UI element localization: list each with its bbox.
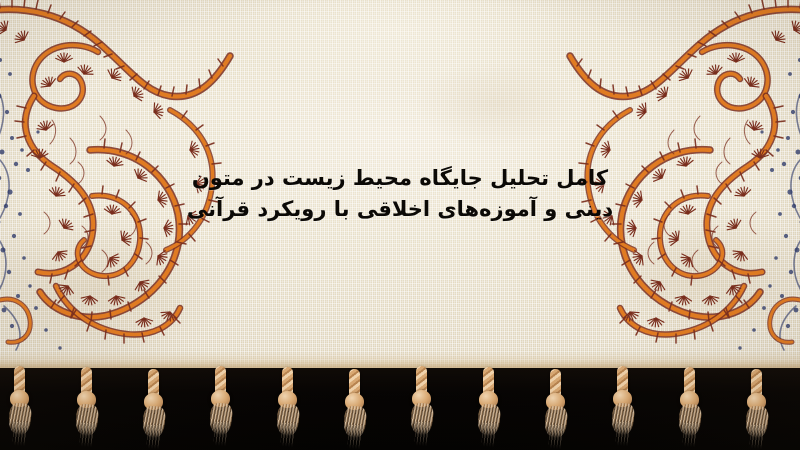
title-line-2: دینی و آموزه‌های اخلاقی با رویکرد قرآنی: [0, 194, 800, 225]
tassel: [672, 361, 706, 441]
tassel-wisp: [146, 424, 161, 449]
tassel: [136, 363, 170, 443]
tassel-fringe: [0, 360, 800, 450]
tassel-wisp: [548, 424, 563, 449]
tassel: [337, 363, 371, 443]
tassel: [471, 361, 505, 441]
tassel: [69, 361, 103, 441]
tassel-wisp: [481, 423, 496, 448]
tassel-wisp: [414, 421, 429, 446]
tassel-wisp: [682, 423, 697, 448]
tassel: [203, 360, 237, 440]
tassel: [270, 361, 304, 441]
tassel: [538, 363, 572, 443]
tassel: [404, 360, 438, 440]
tassel-wisp: [347, 424, 362, 449]
tassel-wisp: [615, 421, 630, 446]
tassel-wisp: [749, 424, 764, 449]
tassel-wisp: [12, 421, 27, 446]
title-line-1: کامل تحلیل جایگاه محیط زیست در متون: [0, 163, 800, 194]
tassel: [605, 360, 639, 440]
tassel: [2, 360, 36, 440]
tassel-wisp: [280, 423, 295, 448]
banner-title: کامل تحلیل جایگاه محیط زیست در متون دینی…: [0, 163, 800, 225]
tassel-wisp: [213, 421, 228, 446]
banner-image: کامل تحلیل جایگاه محیط زیست در متون دینی…: [0, 0, 800, 450]
tassel: [739, 363, 773, 443]
tassel-wisp: [79, 423, 94, 448]
